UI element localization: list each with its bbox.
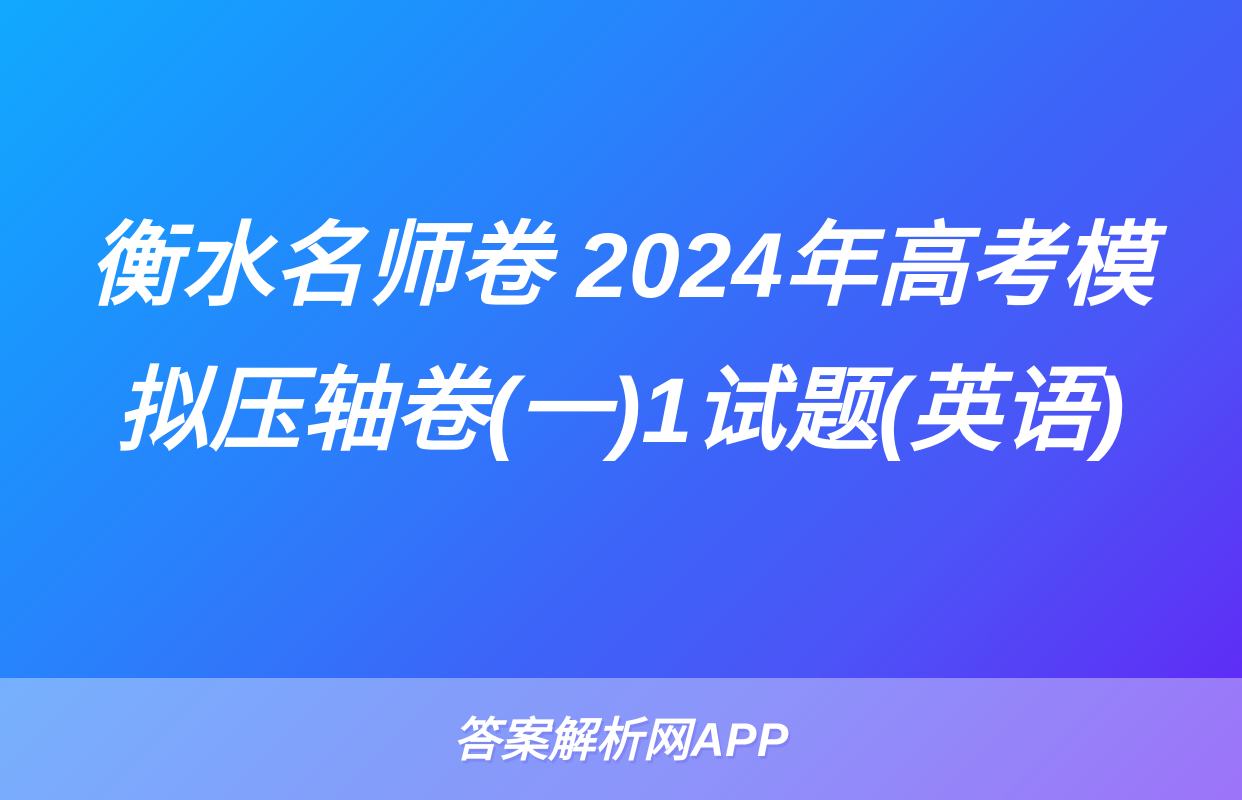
page-title: 衡水名师卷 2024年高考模拟压轴卷(一)1试题(英语) [74, 194, 1168, 485]
app-watermark-label: 答案解析网APP [453, 716, 789, 763]
poster-banner: 衡水名师卷 2024年高考模拟压轴卷(一)1试题(英语) 答案解析网APP [0, 0, 1242, 800]
watermark-band: 答案解析网APP [0, 678, 1242, 800]
title-container: 衡水名师卷 2024年高考模拟压轴卷(一)1试题(英语) [0, 0, 1242, 678]
